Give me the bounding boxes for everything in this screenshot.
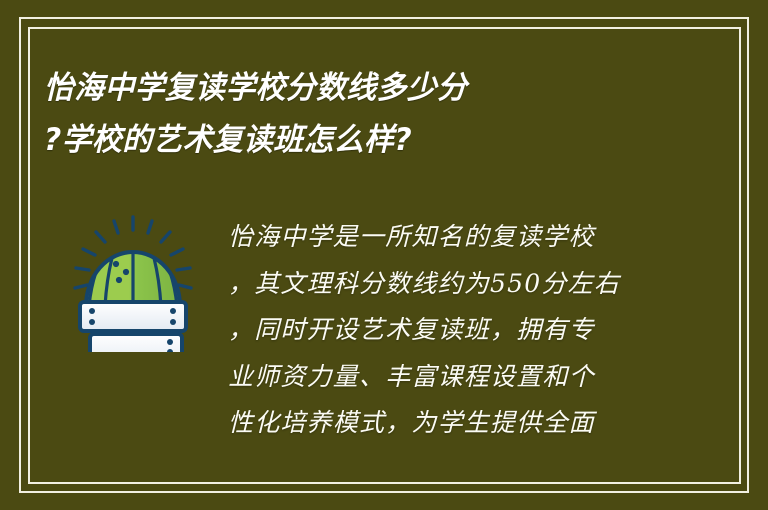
pot-upper-band [80,302,186,331]
body-line-2: ，其文理科分数线约为550分左右 [228,261,660,308]
cactus-icon [72,212,194,352]
body-line-4: 业师资力量、丰富课程设置和个 [228,354,660,401]
body-paragraph: 怡海中学是一所知名的复读学校 ，其文理科分数线约为550分左右 ，同时开设艺术复… [228,214,660,447]
page-title: 怡海中学复读学校分数线多少分 ?学校的艺术复读班怎么样? [44,62,664,166]
body-line-5: 性化培养模式，为学生提供全面 [228,400,660,447]
title-line-1: 怡海中学复读学校分数线多少分 [44,62,639,114]
poster-canvas: 怡海中学复读学校分数线多少分 ?学校的艺术复读班怎么样? [0,0,768,510]
title-line-2: ?学校的艺术复读班怎么样? [44,114,639,166]
body-line-1: 怡海中学是一所知名的复读学校 [228,214,660,261]
body-line-3: ，同时开设艺术复读班，拥有专 [228,307,660,354]
